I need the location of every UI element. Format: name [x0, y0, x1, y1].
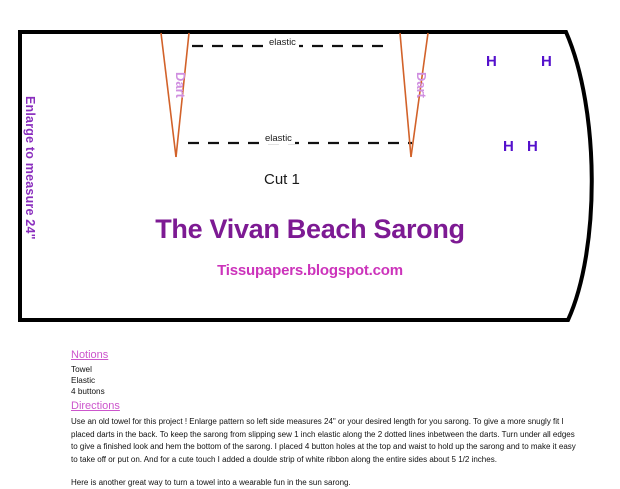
enlarge-to-measure-label: Enlarge to measure 24" [24, 96, 37, 112]
page-title: The Vivan Beach Sarong [155, 216, 465, 243]
elastic-label-top: elastic [266, 38, 299, 48]
pattern-diagram: Enlarge to measure 24" Dart Dart elastic… [0, 0, 620, 345]
list-item: 4 buttons [71, 386, 581, 397]
blog-url-label: Tissupapers.blogspot.com [217, 263, 403, 278]
dart-label-left: Dart [174, 72, 187, 98]
list-item: Elastic [71, 375, 581, 386]
instructions-block: Notions Towel Elastic 4 buttons Directio… [71, 349, 581, 489]
buttonhole-mark-bottom-left: H [503, 139, 514, 154]
notions-heading: Notions [71, 349, 581, 363]
notions-list: Towel Elastic 4 buttons [71, 364, 581, 398]
directions-heading: Directions [71, 400, 581, 414]
pattern-outline-svg [0, 0, 620, 345]
list-item: Towel [71, 364, 581, 375]
buttonhole-mark-top-left: H [486, 54, 497, 69]
dart-label-right: Dart [415, 72, 428, 98]
buttonhole-mark-top-right: H [541, 54, 552, 69]
directions-body: Use an old towel for this project ! Enla… [71, 416, 581, 466]
cut-quantity-label: Cut 1 [264, 172, 300, 187]
elastic-label-bottom: elastic [262, 134, 295, 144]
buttonhole-mark-bottom-right: H [527, 139, 538, 154]
